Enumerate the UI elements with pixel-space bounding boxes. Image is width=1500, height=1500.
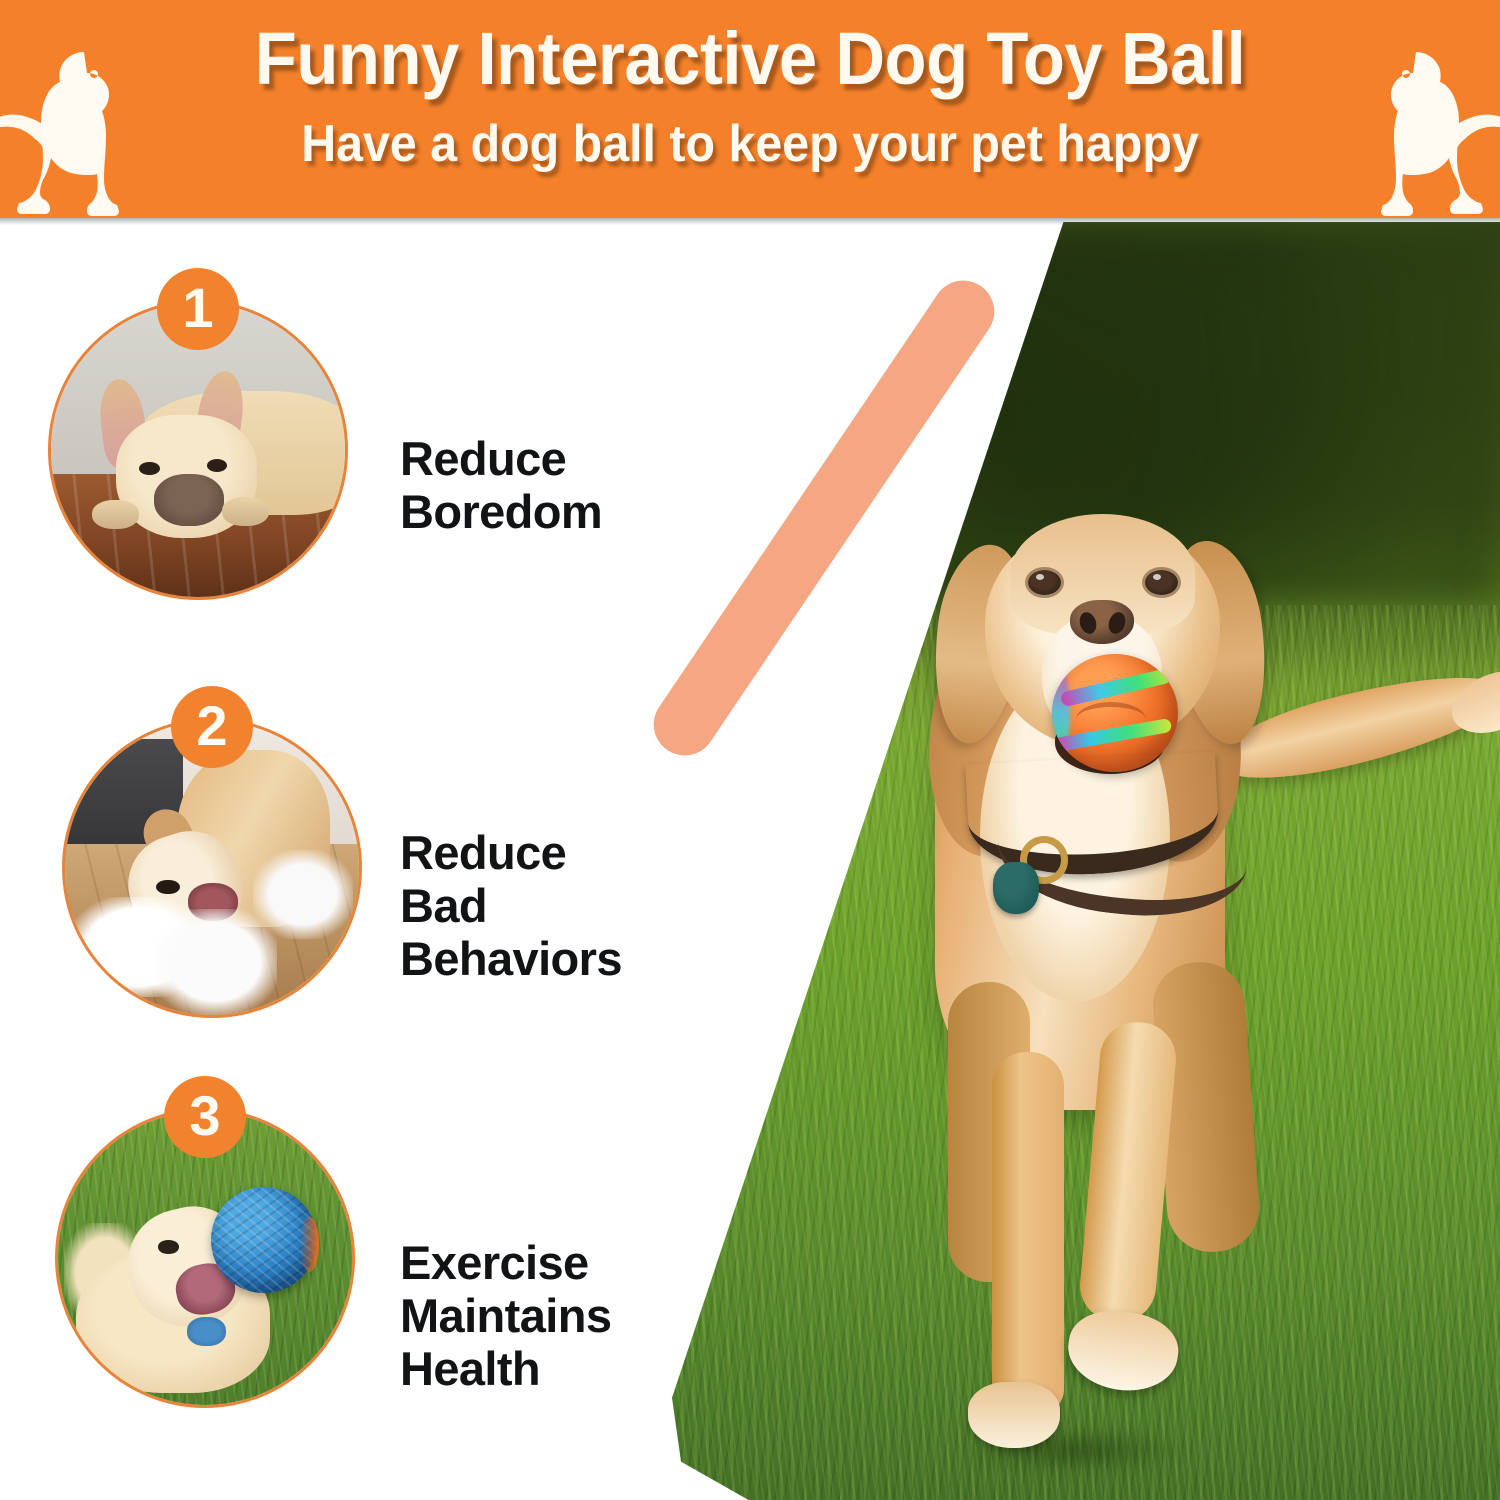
feature-1-dog-left-eye [139, 462, 160, 475]
feature-3-label: Exercise Maintains Health [400, 1236, 611, 1395]
hero-dog-front-left-leg [992, 1052, 1064, 1412]
feature-2-dog-eye [156, 880, 180, 895]
feature-3-dog-tag [187, 1317, 225, 1346]
hero-dog-left-eye [1028, 570, 1061, 595]
header-banner: Funny Interactive Dog Toy Ball Have a do… [0, 0, 1500, 218]
feature-2-number: 2 [196, 698, 227, 754]
hero-dog-left-eye-highlight [1036, 574, 1044, 580]
hero-dog-right-eye-highlight [1153, 574, 1161, 580]
feature-3-number-badge: 3 [164, 1076, 246, 1158]
feature-1-dog-snout [154, 474, 225, 527]
feature-1-label: Reduce Boredom [400, 432, 602, 538]
banner-shadow [0, 218, 1500, 225]
feature-1-dog-right-paw [222, 497, 269, 526]
feature-3-number: 3 [189, 1088, 220, 1144]
banner-subtitle: Have a dog ball to keep your pet happy [53, 118, 1448, 170]
feature-1-number-badge: 1 [157, 268, 239, 350]
feature-3-media: 3 [55, 1108, 355, 1408]
feature-2-number-badge: 2 [171, 686, 253, 768]
feature-1-dog-left-paw [92, 500, 139, 529]
feature-3-blue-ball [211, 1187, 317, 1293]
infographic-page: Funny Interactive Dog Toy Ball Have a do… [0, 0, 1500, 1500]
feature-1-media: 1 [48, 300, 348, 600]
feature-3-dog-eye [158, 1240, 179, 1253]
hero-dog-paw-left [968, 1382, 1060, 1448]
feature-2-label: Reduce Bad Behaviors [400, 826, 622, 985]
hero-photo [600, 222, 1500, 1500]
hero-dog-right-eye [1145, 570, 1178, 595]
feature-2-media: 2 [62, 718, 362, 1018]
hero-dog-id-tag [993, 862, 1039, 914]
feature-3-ball-orange-edge [300, 1217, 319, 1272]
banner-title: Funny Interactive Dog Toy Ball [53, 22, 1448, 96]
feature-2-torn-pillow [153, 909, 276, 1015]
feature-1-number: 1 [182, 280, 213, 336]
